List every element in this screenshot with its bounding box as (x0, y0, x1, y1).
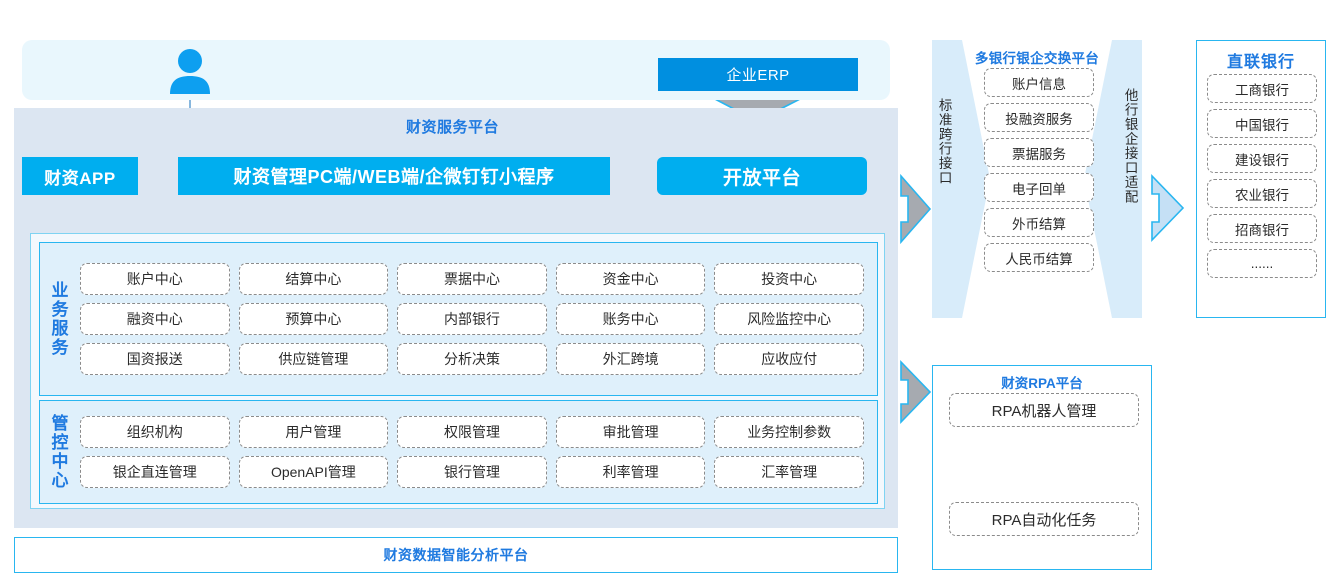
rpa-item[interactable]: RPA自动化任务 (949, 502, 1139, 536)
service-cell[interactable]: 票据中心 (397, 263, 547, 295)
service-cell[interactable]: 国资报送 (80, 343, 230, 375)
bank-item[interactable]: 招商银行 (1207, 214, 1317, 243)
banks-items-list: 工商银行 中国银行 建设银行 农业银行 招商银行 ...... (1207, 74, 1317, 278)
section-label-business: 业务服务 (40, 281, 76, 357)
treasury-pc-web-button[interactable]: 财资管理PC端/WEB端/企微钉钉小程序 (178, 157, 610, 195)
bank-item[interactable]: 工商银行 (1207, 74, 1317, 103)
service-cell[interactable]: 预算中心 (239, 303, 389, 335)
exchange-item[interactable]: 账户信息 (984, 68, 1094, 97)
management-cell[interactable]: 用户管理 (239, 416, 389, 448)
exchange-items-list: 账户信息 投融资服务 票据服务 电子回单 外币结算 人民币结算 (984, 68, 1094, 272)
section-management-center: 管控中心 组织机构 用户管理 权限管理 审批管理 业务控制参数 银企直连管理 O… (39, 400, 878, 504)
service-cell[interactable]: 资金中心 (556, 263, 706, 295)
service-cell[interactable]: 结算中心 (239, 263, 389, 295)
management-cell[interactable]: 权限管理 (397, 416, 547, 448)
treasury-app-button[interactable]: 财资APP (22, 157, 138, 195)
management-cell[interactable]: 汇率管理 (714, 456, 864, 488)
service-cell[interactable]: 外汇跨境 (556, 343, 706, 375)
right-arrow-to-rpa (901, 362, 930, 422)
management-center-grid: 组织机构 用户管理 权限管理 审批管理 业务控制参数 银企直连管理 OpenAP… (76, 407, 877, 497)
bank-item[interactable]: 中国银行 (1207, 109, 1317, 138)
open-platform-button[interactable]: 开放平台 (657, 157, 867, 195)
management-cell[interactable]: 组织机构 (80, 416, 230, 448)
section-label-management: 管控中心 (40, 414, 76, 490)
exchange-item[interactable]: 外币结算 (984, 208, 1094, 237)
exchange-item[interactable]: 投融资服务 (984, 103, 1094, 132)
service-cell[interactable]: 投资中心 (714, 263, 864, 295)
rpa-platform-panel: 财资RPA平台 RPA机器人管理 RPA自动化任务 (932, 365, 1152, 570)
service-cell[interactable]: 账户中心 (80, 263, 230, 295)
management-cell[interactable]: 审批管理 (556, 416, 706, 448)
platform-title: 财资服务平台 (406, 116, 499, 137)
management-cell[interactable]: 银行管理 (397, 456, 547, 488)
services-container: 业务服务 账户中心 结算中心 票据中心 资金中心 投资中心 融资中心 预算中心 … (30, 233, 885, 509)
bank-item[interactable]: 农业银行 (1207, 179, 1317, 208)
business-service-grid: 账户中心 结算中心 票据中心 资金中心 投资中心 融资中心 预算中心 内部银行 … (76, 254, 877, 384)
rpa-item[interactable]: RPA机器人管理 (949, 393, 1139, 427)
rpa-panel-title: 财资RPA平台 (933, 372, 1151, 392)
multi-bank-exchange-panel: 多银行银企交换平台 账户信息 投融资服务 票据服务 电子回单 外币结算 人民币结… (932, 40, 1142, 318)
person-icon (168, 48, 212, 94)
exchange-item[interactable]: 人民币结算 (984, 243, 1094, 272)
bank-item[interactable]: 建设银行 (1207, 144, 1317, 173)
banks-panel-title: 直联银行 (1197, 48, 1325, 72)
erp-button[interactable]: 企业ERP (658, 58, 858, 91)
right-arrow-to-banks (1152, 176, 1183, 240)
service-cell[interactable]: 应收应付 (714, 343, 864, 375)
service-cell[interactable]: 风险监控中心 (714, 303, 864, 335)
service-cell[interactable]: 分析决策 (397, 343, 547, 375)
other-bank-adapter-label: 他行银企接口适配 (1122, 88, 1137, 204)
service-cell[interactable]: 融资中心 (80, 303, 230, 335)
management-cell[interactable]: 利率管理 (556, 456, 706, 488)
management-cell[interactable]: 业务控制参数 (714, 416, 864, 448)
exchange-item[interactable]: 电子回单 (984, 173, 1094, 202)
direct-banks-panel: 直联银行 工商银行 中国银行 建设银行 农业银行 招商银行 ...... (1196, 40, 1326, 318)
management-cell[interactable]: 银企直连管理 (80, 456, 230, 488)
service-cell[interactable]: 账务中心 (556, 303, 706, 335)
service-cell[interactable]: 供应链管理 (239, 343, 389, 375)
management-cell[interactable]: OpenAPI管理 (239, 456, 389, 488)
standard-interface-label: 标准跨行接口 (936, 98, 951, 185)
bank-item-more[interactable]: ...... (1207, 249, 1317, 278)
exchange-panel-title: 多银行银企交换平台 (932, 47, 1142, 67)
analytics-platform-bar: 财资数据智能分析平台 (14, 537, 898, 573)
section-business-service: 业务服务 账户中心 结算中心 票据中心 资金中心 投资中心 融资中心 预算中心 … (39, 242, 878, 396)
service-cell[interactable]: 内部银行 (397, 303, 547, 335)
right-arrow-to-exchange (901, 176, 930, 242)
exchange-item[interactable]: 票据服务 (984, 138, 1094, 167)
